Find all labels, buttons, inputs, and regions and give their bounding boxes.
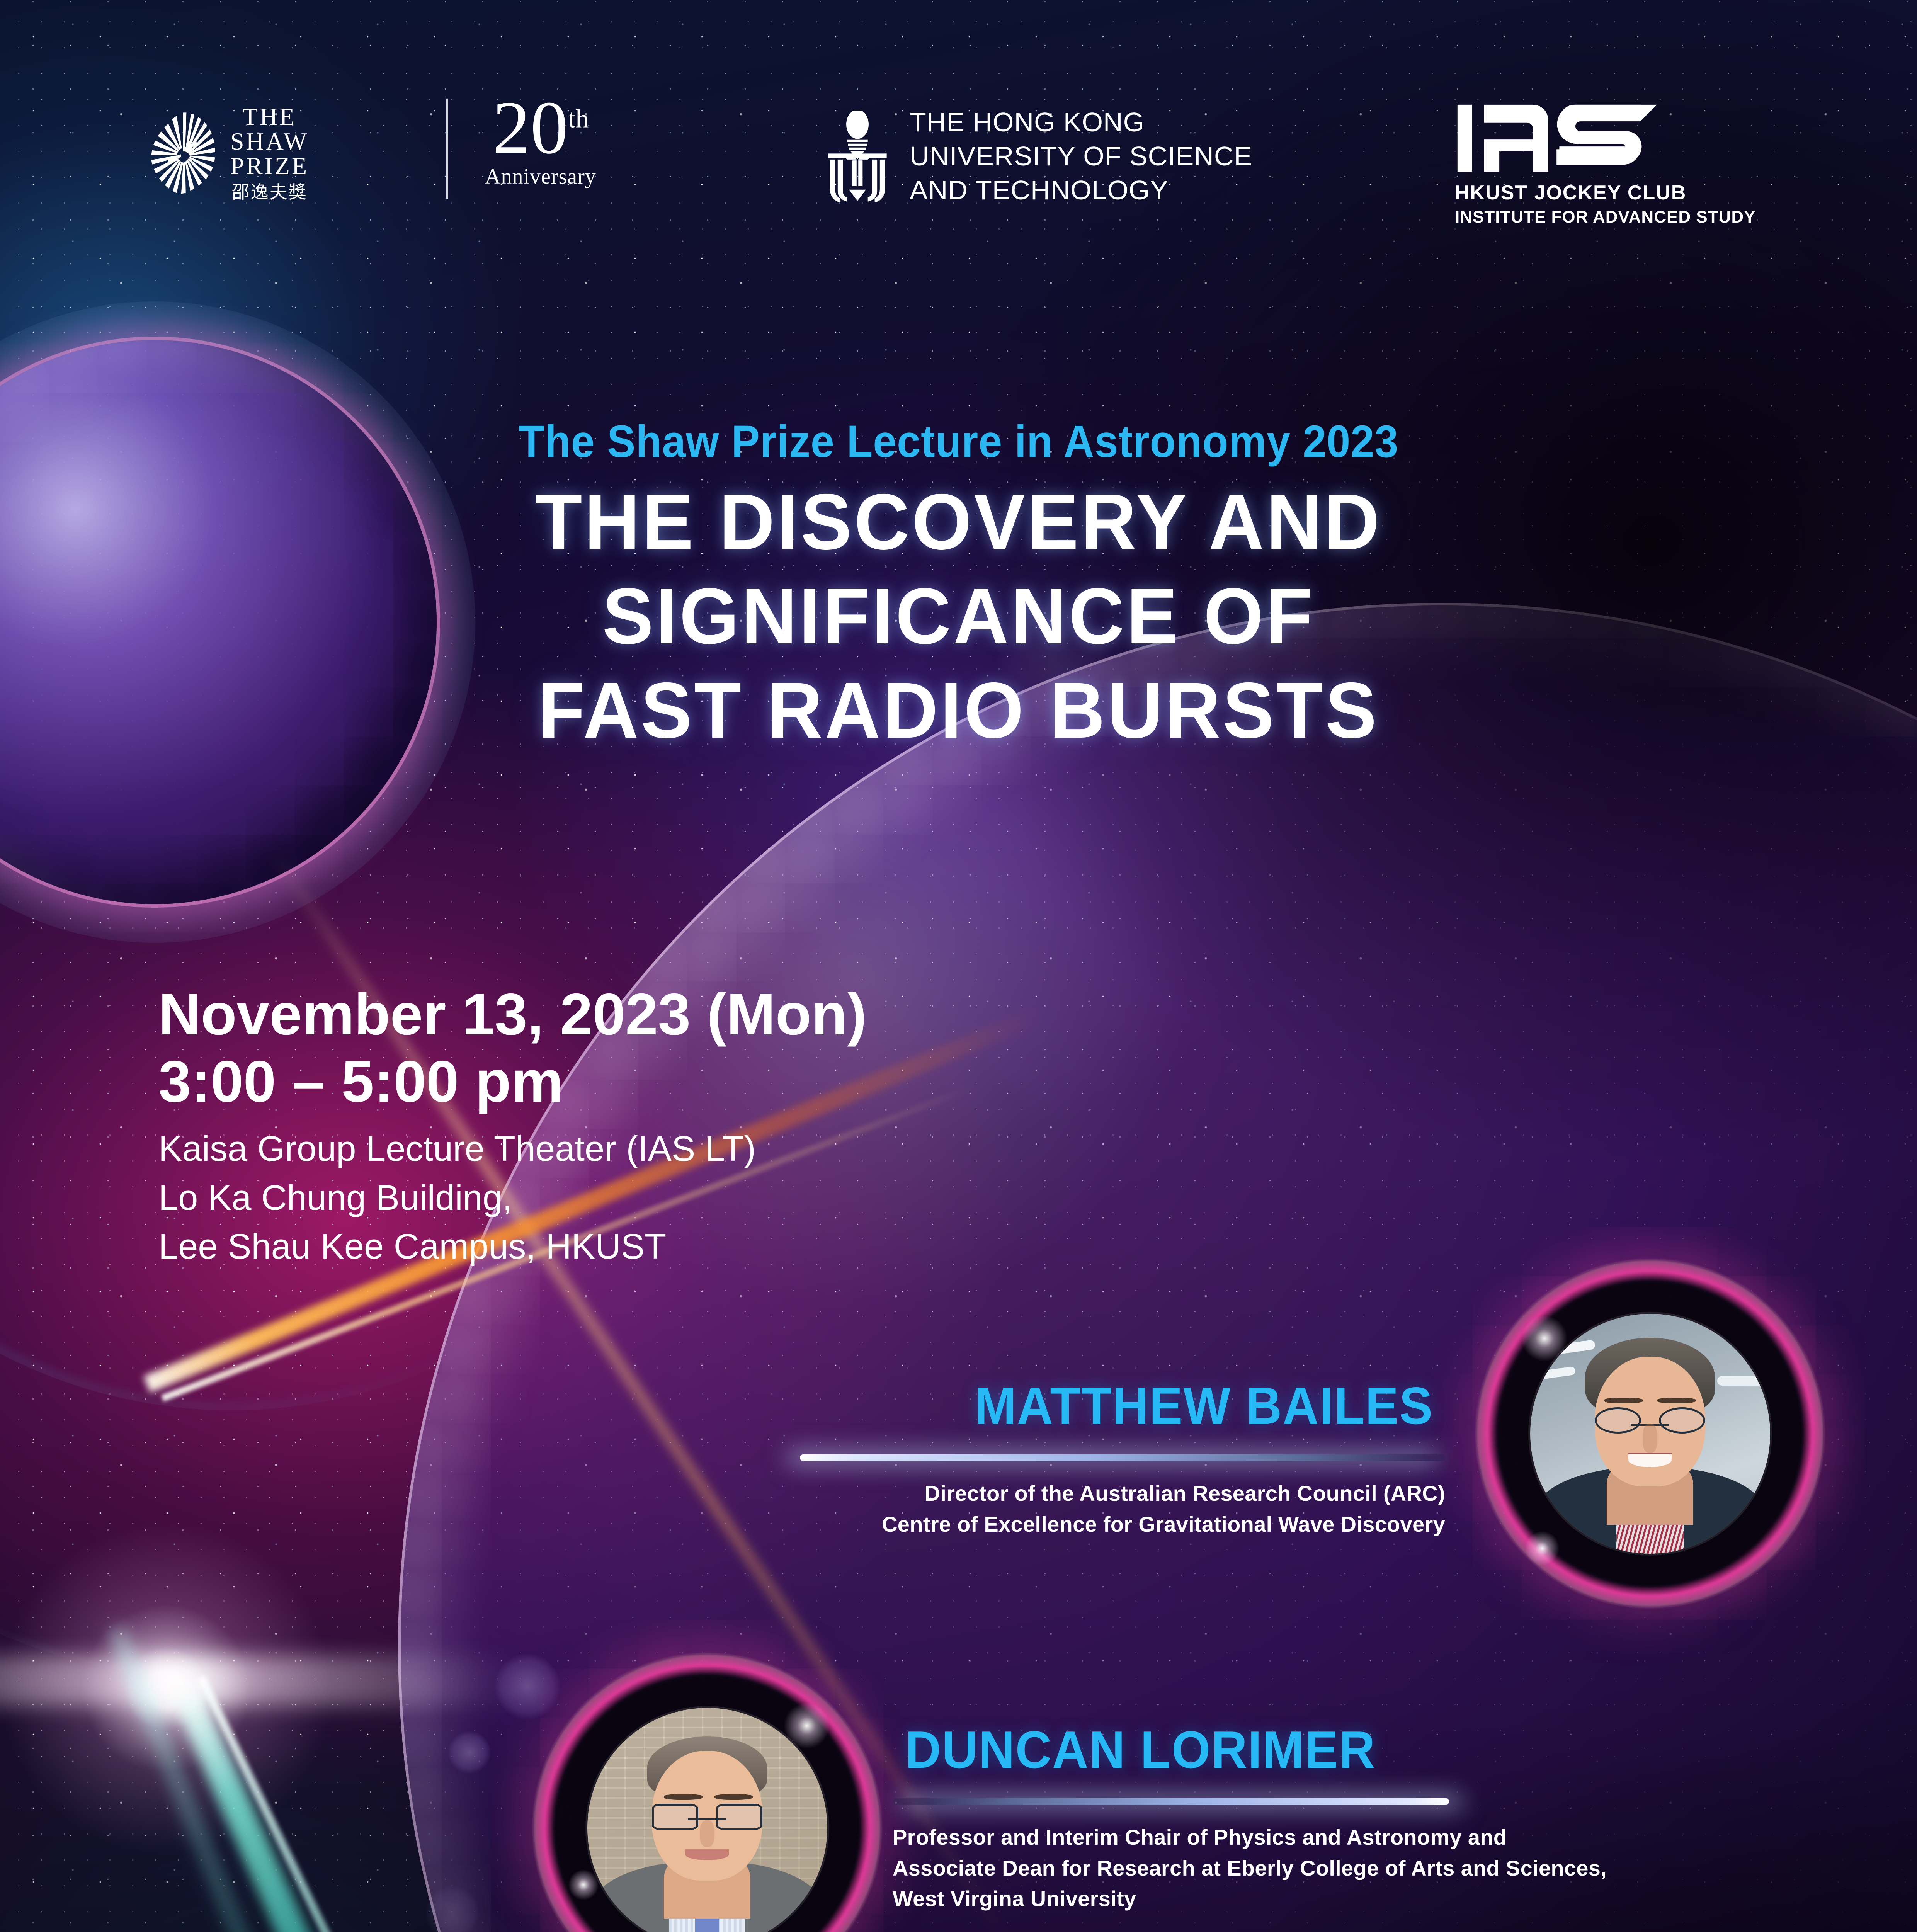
venue-line-2: Lo Ka Chung Building, bbox=[158, 1173, 867, 1222]
avatar bbox=[1530, 1314, 1770, 1554]
speaker-bio-line-2: Associate Dean for Research at Eberly Co… bbox=[893, 1853, 1747, 1884]
face-illustration-1 bbox=[1530, 1314, 1770, 1554]
event-time: 3:00 – 5:00 pm bbox=[158, 1049, 867, 1114]
speaker-divider-rule bbox=[893, 1798, 1449, 1805]
speaker-photo-matthew-bailes bbox=[1476, 1260, 1824, 1607]
anniversary-badge: 20th Anniversary bbox=[485, 95, 596, 189]
poster-content: THE SHAW PRIZE 邵逸夫獎 20th Anniversary bbox=[0, 0, 1917, 1932]
shaw-word-prize: PRIZE bbox=[230, 154, 309, 179]
speaker-name: DUNCAN LORIMER bbox=[905, 1719, 1376, 1780]
mouth-1 bbox=[1628, 1453, 1672, 1467]
speaker-bio-line-3: West Virgina University bbox=[893, 1883, 1747, 1914]
speaker-name: MATTHEW BAILES bbox=[975, 1376, 1433, 1436]
eyebrow-left-1 bbox=[1604, 1398, 1643, 1403]
ias-logo: HKUST JOCKEY CLUB INSTITUTE FOR ADVANCED… bbox=[1455, 100, 1755, 227]
shaw-word-shaw: SHAW bbox=[230, 129, 309, 154]
shaw-word-the: THE bbox=[243, 104, 296, 129]
nose-1 bbox=[1643, 1424, 1657, 1453]
glasses-bridge-2 bbox=[688, 1818, 726, 1820]
shaw-prize-wordmark: THE SHAW PRIZE 邵逸夫獎 bbox=[230, 104, 309, 201]
event-venue: Kaisa Group Lecture Theater (IAS LT) Lo … bbox=[158, 1124, 867, 1270]
lens-left-2 bbox=[652, 1804, 698, 1830]
ceiling-light-3 bbox=[1717, 1376, 1765, 1386]
event-date: November 13, 2023 (Mon) bbox=[158, 981, 867, 1047]
shaw-word-chinese: 邵逸夫獎 bbox=[232, 183, 308, 201]
venue-line-3: Lee Shau Kee Campus, HKUST bbox=[158, 1222, 867, 1271]
event-details: November 13, 2023 (Mon) 3:00 – 5:00 pm K… bbox=[158, 981, 867, 1271]
ias-wordmark-icon bbox=[1455, 100, 1660, 176]
title-line-3: FAST RADIO BURSTS bbox=[29, 663, 1888, 758]
hkust-line-2: UNIVERSITY OF SCIENCE bbox=[910, 139, 1252, 173]
eyebrow-right-2 bbox=[714, 1794, 753, 1800]
hkust-wordmark: THE HONG KONG UNIVERSITY OF SCIENCE AND … bbox=[910, 105, 1252, 207]
eyebrow-right-1 bbox=[1657, 1398, 1696, 1403]
page-title: THE DISCOVERY AND SIGNIFICANCE OF FAST R… bbox=[29, 475, 1888, 758]
speaker-bio: Professor and Interim Chair of Physics a… bbox=[893, 1822, 1747, 1914]
anniversary-number: 20 bbox=[492, 86, 568, 170]
shaw-prize-logo: THE SHAW PRIZE 邵逸夫獎 bbox=[151, 104, 309, 201]
hkust-torch-book-icon bbox=[823, 111, 892, 202]
speaker-divider-rule bbox=[800, 1454, 1445, 1461]
ias-line-2: INSTITUTE FOR ADVANCED STUDY bbox=[1455, 207, 1755, 227]
ring-glint-2 bbox=[1525, 1531, 1560, 1566]
speaker-bio-line-1: Professor and Interim Chair of Physics a… bbox=[893, 1822, 1747, 1853]
title-line-2: SIGNIFICANCE OF bbox=[29, 569, 1888, 663]
ias-line-1: HKUST JOCKEY CLUB bbox=[1455, 181, 1755, 204]
logo-row: THE SHAW PRIZE 邵逸夫獎 20th Anniversary bbox=[0, 97, 1917, 251]
speaker-bio: Director of the Australian Research Coun… bbox=[622, 1478, 1445, 1539]
hkust-logo: THE HONG KONG UNIVERSITY OF SCIENCE AND … bbox=[823, 105, 1252, 207]
speaker-duncan-lorimer: DUNCAN LORIMER Professor and Interim Cha… bbox=[893, 1719, 1747, 1914]
lens-right-2 bbox=[716, 1804, 762, 1830]
hkust-line-3: AND TECHNOLOGY bbox=[910, 173, 1252, 207]
lens-right-1 bbox=[1659, 1407, 1705, 1434]
title-block: The Shaw Prize Lecture in Astronomy 2023… bbox=[0, 415, 1917, 758]
shaw-prize-sunburst-icon bbox=[151, 111, 216, 194]
ring-glint-1 bbox=[1521, 1315, 1568, 1362]
ring-glint-3 bbox=[784, 1702, 830, 1749]
title-line-1: THE DISCOVERY AND bbox=[29, 475, 1888, 569]
hkust-line-1: THE HONG KONG bbox=[910, 105, 1252, 139]
venue-line-1: Kaisa Group Lecture Theater (IAS LT) bbox=[158, 1124, 867, 1173]
anniversary-ordinal: th bbox=[568, 104, 589, 133]
mouth-2 bbox=[685, 1849, 729, 1860]
speaker-bio-line-2: Centre of Excellence for Gravitational W… bbox=[622, 1509, 1445, 1540]
speaker-matthew-bailes: MATTHEW BAILES Director of the Australia… bbox=[622, 1376, 1445, 1539]
logo-divider bbox=[446, 99, 448, 199]
ring-glint-4 bbox=[568, 1869, 599, 1900]
lens-left-1 bbox=[1595, 1407, 1641, 1434]
lecture-series-kicker: The Shaw Prize Lecture in Astronomy 2023 bbox=[67, 415, 1850, 468]
speaker-bio-line-1: Director of the Australian Research Coun… bbox=[622, 1478, 1445, 1509]
eyebrow-left-2 bbox=[664, 1794, 702, 1800]
anniversary-number-group: 20th bbox=[492, 95, 589, 161]
nose-2 bbox=[700, 1820, 714, 1847]
poster-root: THE SHAW PRIZE 邵逸夫獎 20th Anniversary bbox=[0, 0, 1917, 1932]
speaker-photo-duncan-lorimer bbox=[533, 1654, 881, 1932]
